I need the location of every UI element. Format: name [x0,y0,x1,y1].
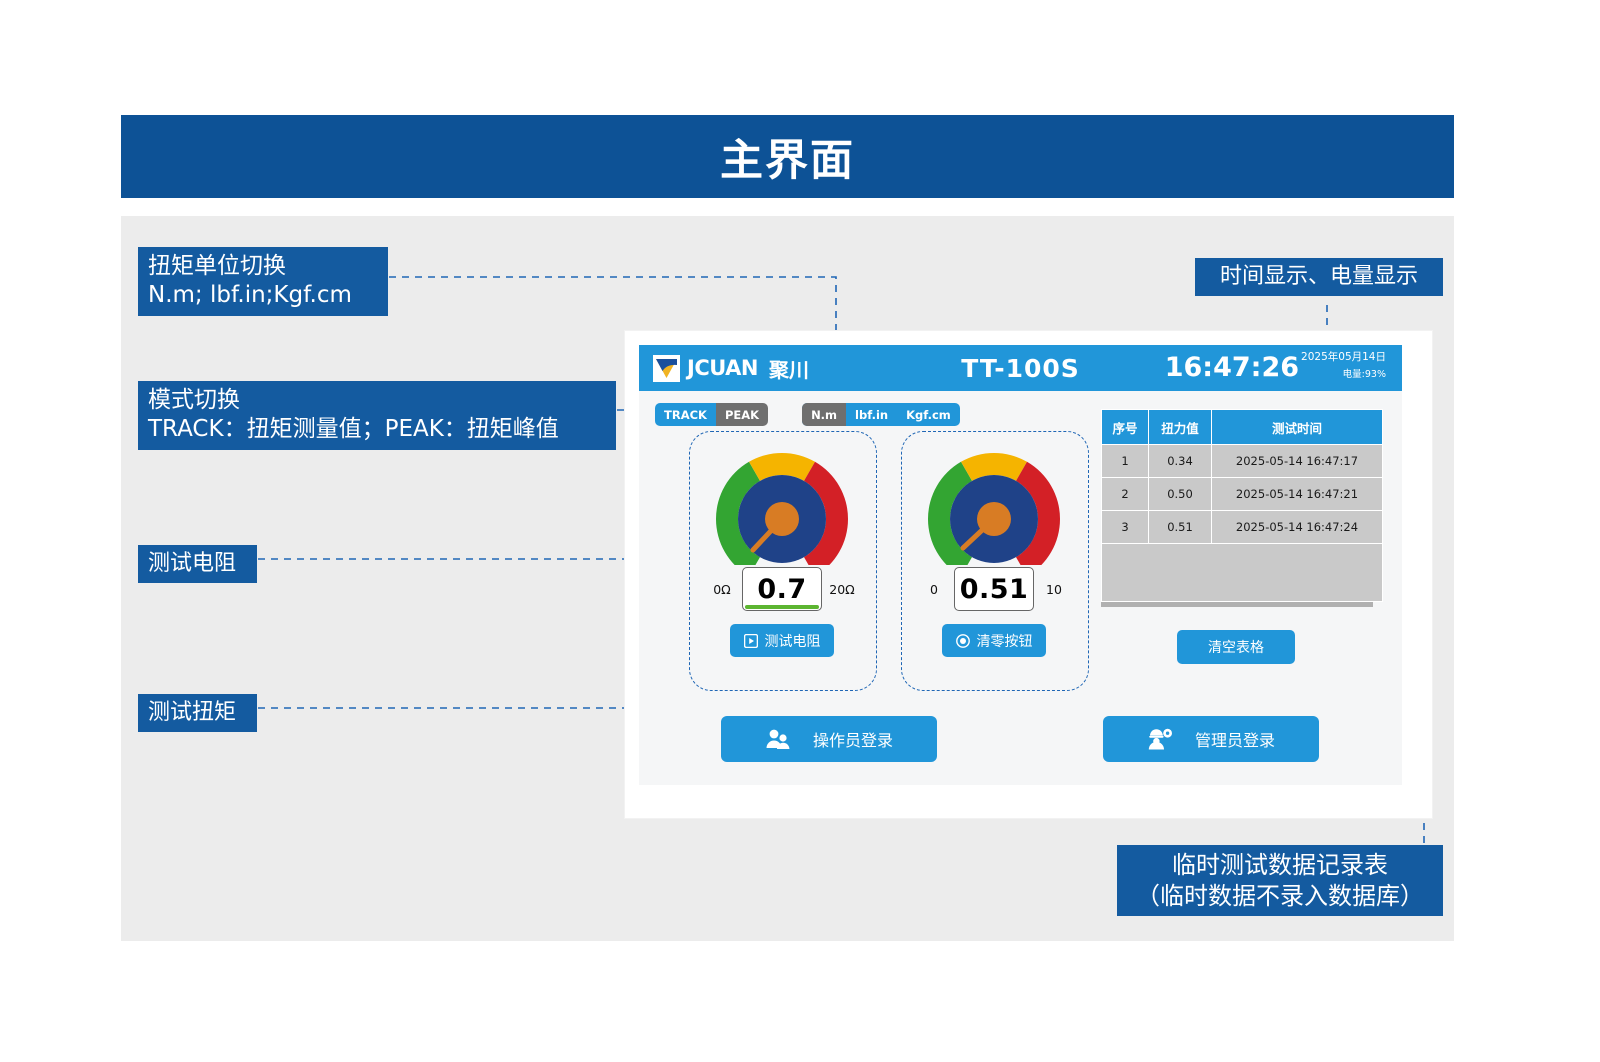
table-cell-torque: 0.51 [1149,511,1212,544]
annotation-test-torque-label: 测试扭矩 [148,699,247,727]
test-resistance-button[interactable]: 测试电阻 [730,624,834,657]
table-cell-time: 2025-05-14 16:47:24 [1212,511,1383,544]
slide-title-banner: 主界面 [121,115,1454,198]
unit-option-lbfin[interactable]: lbf.in [846,403,897,426]
annotation-test-resistance: 测试电阻 [138,545,257,583]
table-row-empty [1102,544,1383,602]
table-header-row: 序号 扭力值 测试时间 [1102,410,1383,445]
annotation-time-battery-label: 时间显示、电量显示 [1220,263,1418,291]
clock-date: 2025年05月14日 [1301,351,1386,363]
gauge-torque-value: 0.51 [960,574,1029,605]
clock-side: 2025年05月14日 电量:93% [1301,349,1386,381]
gauge-resistance-value-box: 0.7 [742,567,822,611]
unit-toggle-group[interactable]: N.m lbf.in Kgf.cm [802,403,960,426]
annotation-temp-table-line1: 临时测试数据记录表 [1172,850,1388,881]
unit-option-kgfcm[interactable]: Kgf.cm [897,403,960,426]
table-cell-index: 2 [1102,478,1149,511]
gauge-resistance-dial [706,443,858,570]
annotation-test-resistance-label: 测试电阻 [148,550,247,578]
device-header-bar: JCUAN 聚川 TT-100S 16:47:26 2025年05月14日 电量… [639,345,1402,391]
annotation-unit-switch-line1: 扭矩单位切换 [148,252,378,281]
table-cell-index: 3 [1102,511,1149,544]
annotation-unit-switch: 扭矩单位切换 N.m; lbf.in;Kgf.cm [138,247,388,316]
table-cell-index: 1 [1102,445,1149,478]
table-header-torque: 扭力值 [1149,410,1212,445]
brand-logo: JCUAN 聚川 [653,354,809,383]
annotation-mode-switch-line1: 模式切换 [148,386,606,415]
jcuan-logo-icon [653,355,680,382]
mode-option-peak[interactable]: PEAK [716,403,768,426]
page-title: 主界面 [720,126,855,188]
target-icon [956,634,970,648]
gauge-module-torque: 0 0.51 10 清零按钮 [901,443,1087,657]
table-header-time: 测试时间 [1212,410,1383,445]
annotation-temp-table: 临时测试数据记录表 （临时数据不录入数据库） [1117,845,1443,916]
table-header-index: 序号 [1102,410,1149,445]
gauge-torque-dial [918,443,1070,570]
table-bottom-scroll[interactable] [1101,602,1373,607]
records-table-wrap: 序号 扭力值 测试时间 1 0.34 2025-05-14 16:47:17 2… [1101,409,1373,607]
gauge-torque-max: 10 [1038,582,1070,597]
clear-table-button-label: 清空表格 [1208,637,1264,657]
gauge-resistance-underbar [745,605,819,609]
annotation-time-battery: 时间显示、电量显示 [1195,258,1443,296]
table-cell-time: 2025-05-14 16:47:21 [1212,478,1383,511]
table-cell-torque: 0.50 [1149,478,1212,511]
gauge-torque-scale: 0 0.51 10 [901,567,1087,611]
table-row[interactable]: 2 0.50 2025-05-14 16:47:21 [1102,478,1383,511]
users-icon [765,728,791,750]
gauge-torque-min: 0 [918,582,950,597]
table-cell-torque: 0.34 [1149,445,1212,478]
device-screenshot-card: JCUAN 聚川 TT-100S 16:47:26 2025年05月14日 电量… [625,331,1432,818]
clear-table-button[interactable]: 清空表格 [1177,630,1295,664]
gauge-resistance-scale: 0Ω 0.7 20Ω [689,567,875,611]
toggles-row: TRACK PEAK N.m lbf.in Kgf.cm [655,403,960,426]
admin-login-button[interactable]: 管理员登录 [1103,716,1319,762]
gauge-module-resistance: 0Ω 0.7 20Ω 测试电阻 [689,443,875,657]
gauge-resistance-min: 0Ω [706,582,738,597]
records-table: 序号 扭力值 测试时间 1 0.34 2025-05-14 16:47:17 2… [1101,409,1383,602]
table-cell-time: 2025-05-14 16:47:17 [1212,445,1383,478]
gauge-torque-value-box: 0.51 [954,567,1034,611]
zero-reset-button[interactable]: 清零按钮 [942,624,1046,657]
table-empty-area [1102,544,1383,602]
mode-option-track[interactable]: TRACK [655,403,716,426]
battery-indicator: 电量:93% [1343,369,1386,381]
clock-area: 16:47:26 2025年05月14日 电量:93% [1165,349,1386,387]
annotation-mode-switch: 模式切换 TRACK：扭矩测量值；PEAK：扭矩峰值 [138,381,616,450]
slide-root: 主界面 扭矩单位切换 N.m; lbf.in;Kgf.cm 模式切换 TRACK… [0,0,1600,1062]
gauge-resistance-max: 20Ω [826,582,858,597]
test-resistance-button-label: 测试电阻 [765,631,821,651]
unit-option-nm[interactable]: N.m [802,403,846,426]
brand-logo-cn: 聚川 [769,354,809,383]
brand-logo-text: JCUAN [687,356,758,380]
table-row[interactable]: 1 0.34 2025-05-14 16:47:17 [1102,445,1383,478]
annotation-test-torque: 测试扭矩 [138,694,257,732]
gauge-resistance-value: 0.7 [757,574,806,605]
annotation-mode-switch-line2: TRACK：扭矩测量值；PEAK：扭矩峰值 [148,415,606,444]
engineer-gear-icon [1147,728,1173,750]
admin-login-label: 管理员登录 [1195,727,1275,751]
annotation-temp-table-line2: （临时数据不录入数据库） [1136,881,1424,912]
mode-toggle-group[interactable]: TRACK PEAK [655,403,768,426]
operator-login-button[interactable]: 操作员登录 [721,716,937,762]
table-row[interactable]: 3 0.51 2025-05-14 16:47:24 [1102,511,1383,544]
zero-reset-button-label: 清零按钮 [977,631,1033,651]
play-icon [744,634,758,648]
annotation-unit-switch-line2: N.m; lbf.in;Kgf.cm [148,281,378,310]
clock-time: 16:47:26 [1165,349,1299,387]
operator-login-label: 操作员登录 [813,727,893,751]
